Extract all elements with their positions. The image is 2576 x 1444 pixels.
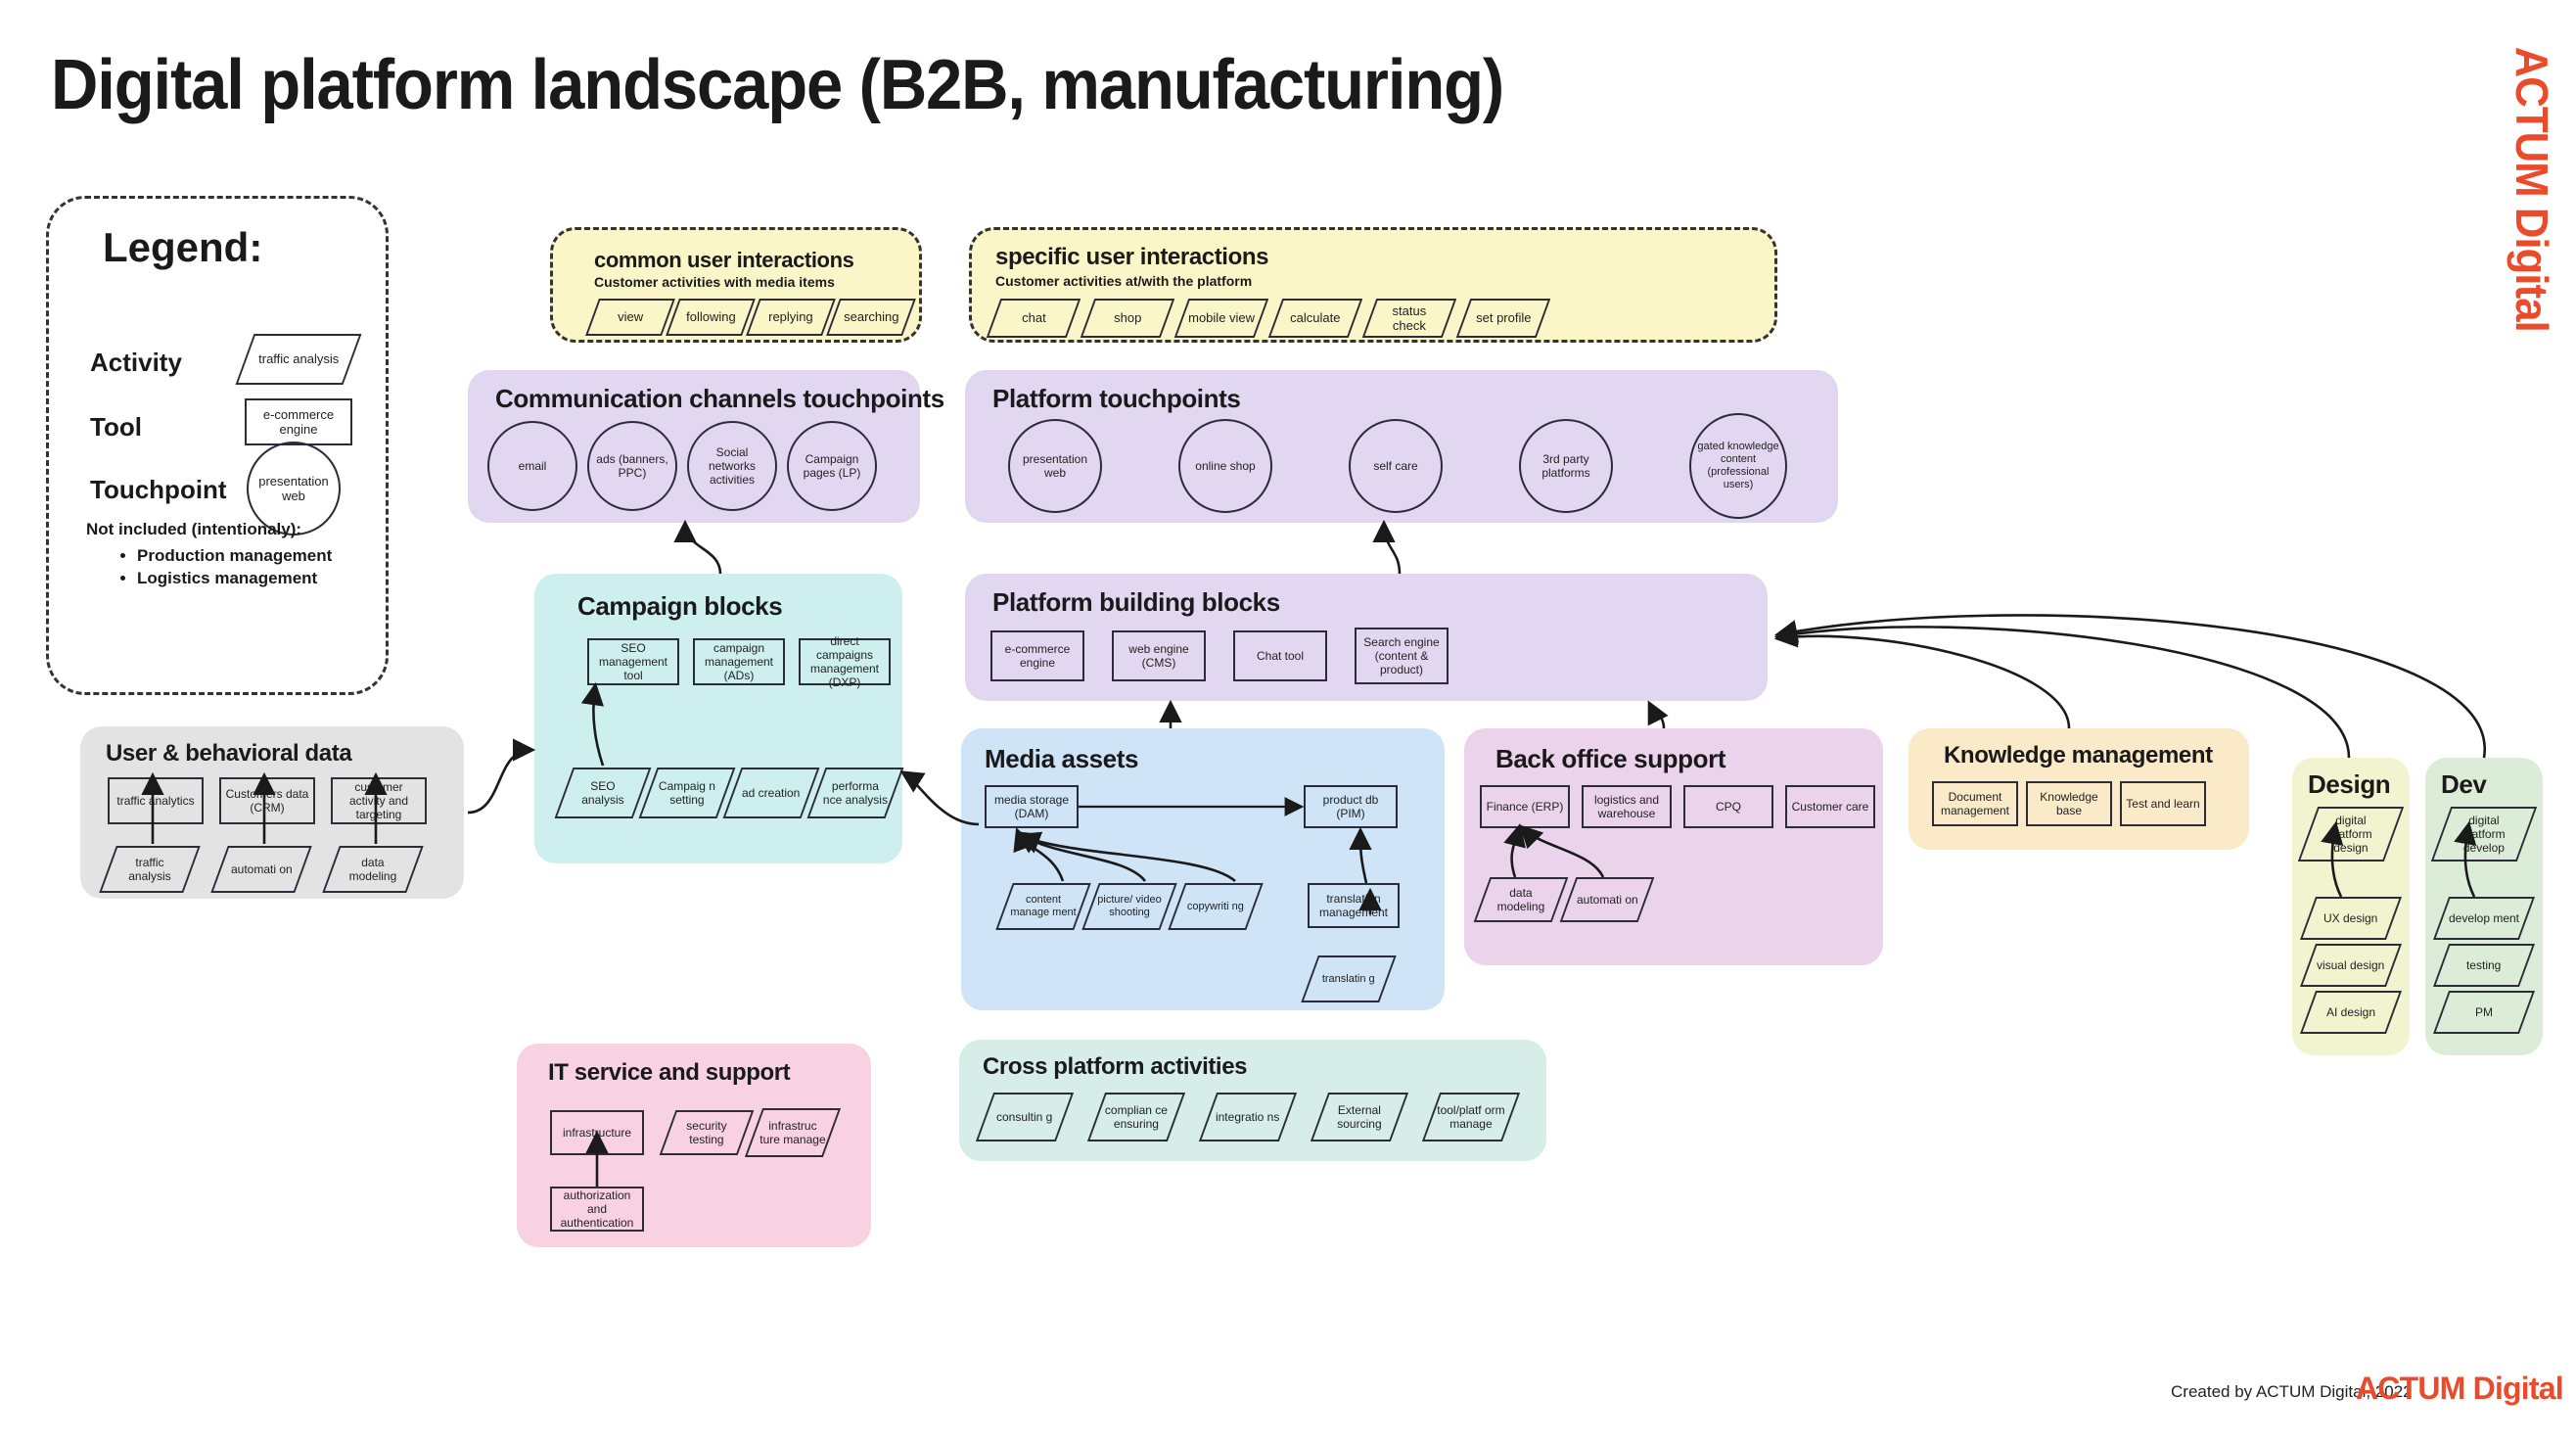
touchpoint-node: presentation web — [1008, 419, 1102, 513]
activity-node: visual design — [2300, 944, 2402, 987]
activity-node: infrastruc ture manage — [745, 1108, 841, 1157]
page-title: Digital platform landscape (B2B, manufac… — [51, 45, 1503, 125]
activity-node: automati on — [1560, 877, 1655, 922]
legend-sample-tool: e-commerce engine — [245, 398, 352, 445]
touchpoint-node: Campaign pages (LP) — [787, 421, 877, 511]
brand-logo-vertical: ACTUM Digital — [2506, 47, 2558, 332]
group-subtitle: Customer activities with media items — [594, 274, 835, 290]
activity-node: traffic analysis — [99, 846, 200, 893]
group-title: Cross platform activities — [983, 1053, 1247, 1081]
touchpoint-node: email — [487, 421, 577, 511]
activity-node: AI design — [2300, 991, 2402, 1034]
activity-node: performa nce analysis — [807, 768, 904, 818]
tool-node: Customers data (CRM) — [219, 777, 315, 824]
tool-node: logistics and warehouse — [1582, 785, 1672, 828]
activity-node: replying — [746, 299, 836, 336]
activity-node: testing — [2433, 944, 2535, 987]
activity-node: digital platform design — [2298, 807, 2404, 862]
group-title: Campaign blocks — [577, 591, 782, 622]
group-cross-platform-activities: Cross platform activities consultin g co… — [959, 1040, 1546, 1161]
legend-panel: Legend: Activity traffic analysis Tool e… — [46, 196, 389, 695]
group-title: Communication channels touchpoints — [495, 384, 944, 414]
tool-node: Knowledge base — [2026, 781, 2112, 826]
activity-node: shop — [1081, 299, 1175, 338]
group-platform-building-blocks: Platform building blocks e-commerce engi… — [965, 574, 1768, 701]
touchpoint-node: gated knowledge content (professional us… — [1689, 413, 1787, 519]
legend-sample-activity: traffic analysis — [236, 334, 362, 385]
list-item: Logistics management — [137, 569, 332, 588]
tool-node: Test and learn — [2120, 781, 2206, 826]
group-title: common user interactions — [594, 248, 853, 273]
group-design: Design digital platform design UX design… — [2292, 758, 2410, 1055]
group-title: Knowledge management — [1944, 742, 2213, 769]
activity-node: ad creation — [723, 768, 820, 818]
link-backoffice-to-building — [1650, 705, 1664, 728]
link-userdata-to-campaign — [468, 750, 530, 813]
group-it-service-and-support: IT service and support infrastructure au… — [517, 1044, 871, 1247]
legend-label-touchpoint: Touchpoint — [90, 475, 227, 505]
activity-node: automati on — [210, 846, 311, 893]
group-title: specific user interactions — [995, 244, 1268, 271]
group-user-behavioral-data: User & behavioral data traffic analytics… — [80, 726, 464, 899]
tool-node-product-db: product db (PIM) — [1304, 785, 1398, 828]
tool-node-authorization: authorization and authentication — [550, 1187, 644, 1232]
group-title: Dev — [2441, 769, 2487, 800]
activity-node: view — [585, 299, 675, 336]
legend-label-activity: Activity — [90, 348, 182, 378]
group-specific-user-interactions: specific user interactions Customer acti… — [969, 227, 1777, 343]
touchpoint-node: ads (banners, PPC) — [587, 421, 677, 511]
connector-layer — [0, 0, 2576, 1444]
group-title: User & behavioral data — [106, 740, 351, 768]
touchpoint-node: online shop — [1178, 419, 1272, 513]
activity-node: consultin g — [976, 1093, 1074, 1141]
group-title: Design — [2308, 769, 2390, 800]
link-building-to-platform-touchpoints — [1384, 525, 1400, 574]
tool-node: Document management — [1932, 781, 2018, 826]
touchpoint-node: self care — [1349, 419, 1443, 513]
group-title: Back office support — [1495, 744, 1725, 774]
group-campaign-blocks: Campaign blocks SEO management tool camp… — [534, 574, 902, 863]
tool-node-translation-management: translation management — [1308, 883, 1400, 928]
activity-node: SEO analysis — [555, 768, 652, 818]
activity-node: Campaig n setting — [639, 768, 736, 818]
activity-node: digital platform develop — [2431, 807, 2537, 862]
tool-node: customer activity and targeting — [331, 777, 427, 824]
legend-title: Legend: — [103, 224, 262, 271]
tool-node: Finance (ERP) — [1480, 785, 1570, 828]
touchpoint-node: Social networks activities — [687, 421, 777, 511]
tool-node: CPQ — [1683, 785, 1773, 828]
group-platform-touchpoints: Platform touchpoints presentation web on… — [965, 370, 1838, 523]
group-common-user-interactions: common user interactions Customer activi… — [550, 227, 922, 343]
activity-node: set profile — [1456, 299, 1551, 338]
link-knowledge-to-building — [1779, 636, 2069, 728]
tool-node: SEO management tool — [587, 638, 679, 685]
group-title: Platform building blocks — [992, 587, 1280, 618]
activity-node: content manage ment — [995, 883, 1090, 930]
activity-node: translatin g — [1301, 955, 1396, 1002]
group-communication-channels-touchpoints: Communication channels touchpoints email… — [468, 370, 920, 523]
legend-not-included-list: Production management Logistics manageme… — [119, 543, 332, 591]
tool-node: Customer care — [1785, 785, 1875, 828]
legend-label-tool: Tool — [90, 412, 142, 443]
group-subtitle: Customer activities at/with the platform — [995, 273, 1252, 289]
tool-node: Chat tool — [1233, 630, 1327, 681]
touchpoint-node: 3rd party platforms — [1519, 419, 1613, 513]
footer-logo: ACTUM Digital — [2356, 1371, 2563, 1407]
group-title: IT service and support — [548, 1059, 790, 1087]
tool-node: traffic analytics — [108, 777, 204, 824]
tool-node: Search engine (content & product) — [1355, 628, 1449, 684]
activity-node: copywriti ng — [1168, 883, 1263, 930]
activity-node: picture/ video shooting — [1081, 883, 1176, 930]
group-knowledge-management: Knowledge management Document management… — [1909, 728, 2249, 850]
activity-node: PM — [2433, 991, 2535, 1034]
tool-node: direct campaigns management (DXP) — [799, 638, 891, 685]
list-item: Production management — [137, 546, 332, 566]
tool-node: web engine (CMS) — [1112, 630, 1206, 681]
group-media-assets: Media assets media storage (DAM) product… — [961, 728, 1445, 1010]
tool-node: e-commerce engine — [990, 630, 1084, 681]
activity-node: External sourcing — [1311, 1093, 1408, 1141]
link-campaign-to-comm-touchpoints — [685, 525, 720, 574]
activity-node: data modeling — [322, 846, 423, 893]
group-title: Platform touchpoints — [992, 384, 1240, 414]
activity-node: complian ce ensuring — [1087, 1093, 1185, 1141]
activity-node: develop ment — [2433, 897, 2535, 940]
activity-node: status check — [1362, 299, 1457, 338]
activity-node: integratio ns — [1199, 1093, 1297, 1141]
group-dev: Dev digital platform develop develop men… — [2425, 758, 2543, 1055]
tool-node: campaign management (ADs) — [693, 638, 785, 685]
activity-node: tool/platf orm manage — [1422, 1093, 1520, 1141]
diagram-canvas: Digital platform landscape (B2B, manufac… — [0, 0, 2576, 1444]
activity-node: security testing — [660, 1110, 755, 1155]
group-title: Media assets — [985, 744, 1138, 774]
activity-node: calculate — [1268, 299, 1363, 338]
activity-node: chat — [987, 299, 1081, 338]
activity-node: data modeling — [1474, 877, 1569, 922]
activity-node: searching — [826, 299, 916, 336]
activity-node: mobile view — [1174, 299, 1269, 338]
tool-node-infrastructure: infrastructure — [550, 1110, 644, 1155]
activity-node: following — [666, 299, 756, 336]
legend-not-included-title: Not included (intentionaly): — [86, 520, 301, 539]
activity-node: UX design — [2300, 897, 2402, 940]
tool-node-media-storage: media storage (DAM) — [985, 785, 1079, 828]
group-back-office-support: Back office support Finance (ERP) logist… — [1464, 728, 1883, 965]
